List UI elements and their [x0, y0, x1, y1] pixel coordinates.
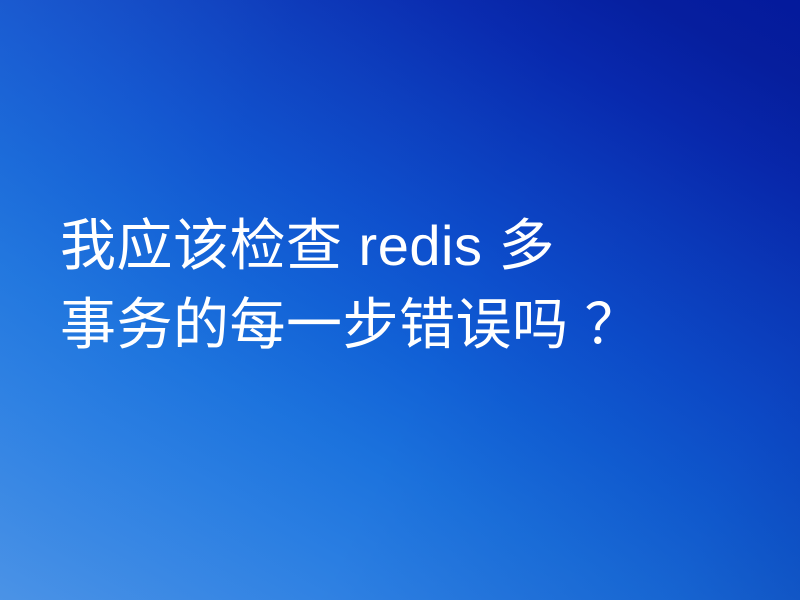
quote-line-1: 我应该检查 redis 多: [60, 206, 760, 285]
quote-line-2: 事务的每一步错误吗 ？: [60, 285, 760, 364]
quote-card: 我应该检查 redis 多 事务的每一步错误吗 ？: [0, 0, 800, 600]
quote-text-block: 我应该检查 redis 多 事务的每一步错误吗 ？: [60, 206, 760, 364]
